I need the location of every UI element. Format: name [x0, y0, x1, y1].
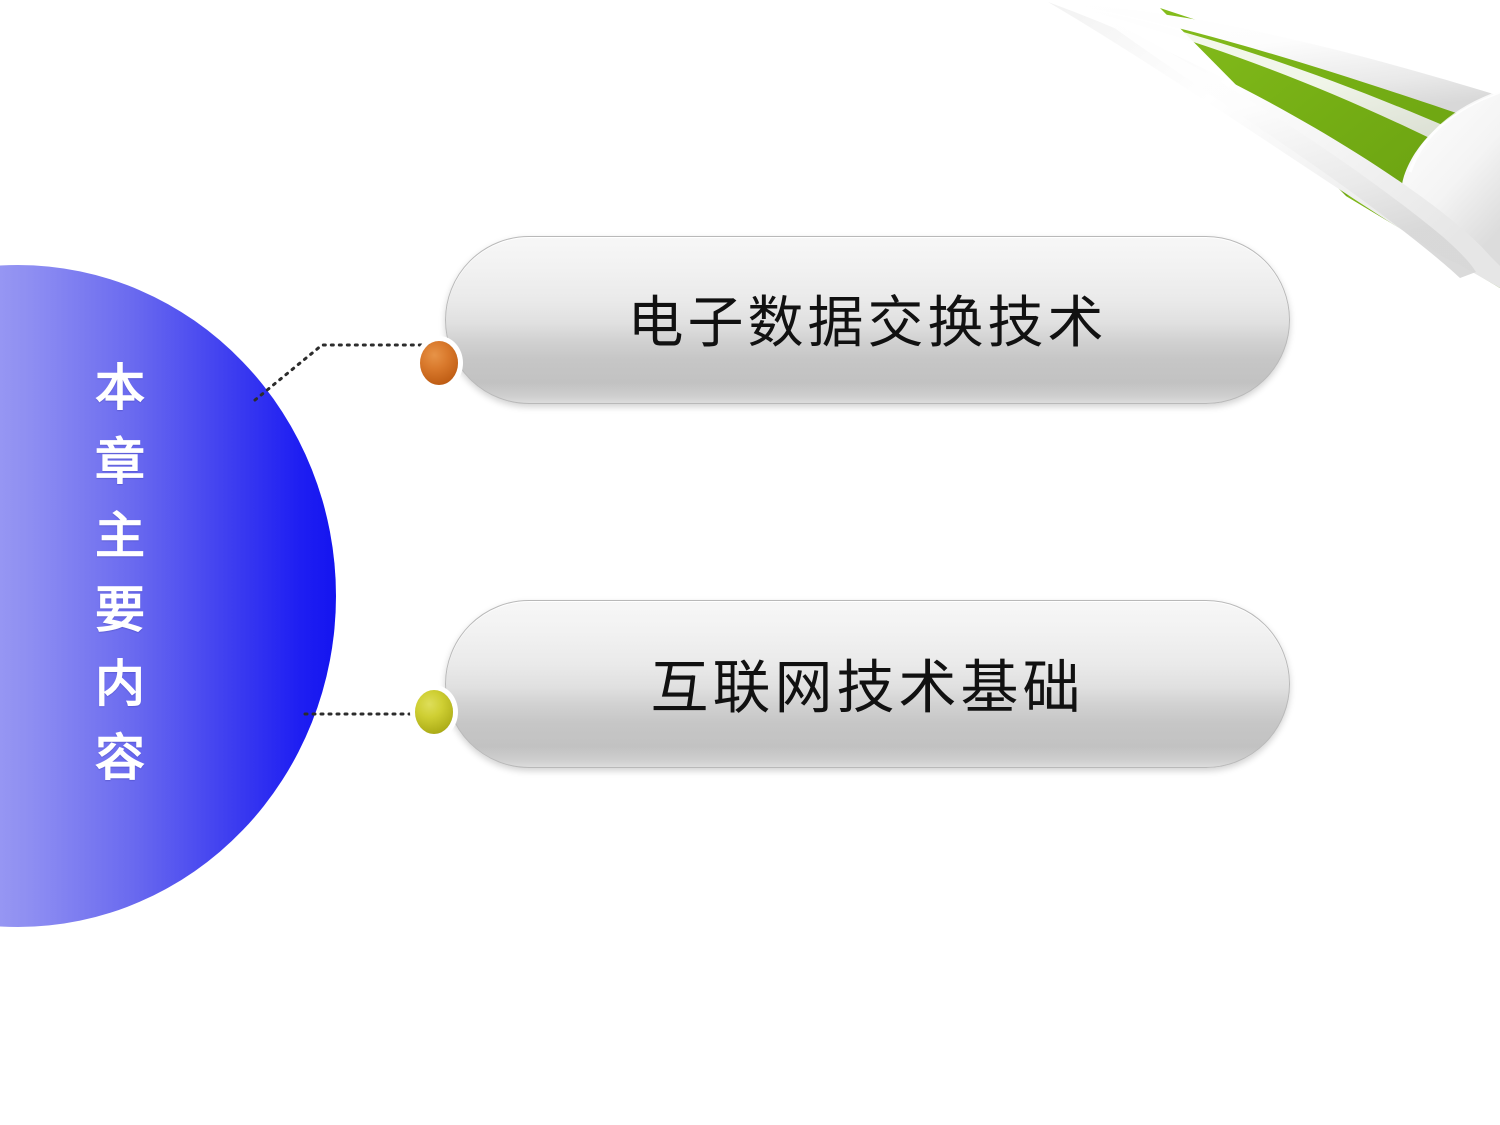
content-item[interactable]: 互联网技术基础	[0, 600, 1500, 770]
paper-sliver-top	[1048, 2, 1500, 128]
content-item[interactable]: 电子数据交换技术	[0, 236, 1500, 406]
item-pill[interactable]: 电子数据交换技术	[445, 236, 1290, 404]
item-label: 电子数据交换技术	[446, 278, 1289, 359]
paper-sliver-mid	[1048, 2, 1500, 176]
slide-canvas: 本 章 主 要 内 容 电子数据交换技术 互联网技术基础	[0, 0, 1500, 1125]
item-pill[interactable]: 互联网技术基础	[445, 600, 1290, 768]
bullet-dot-icon	[415, 690, 453, 734]
item-label: 互联网技术基础	[446, 640, 1289, 724]
bullet-dot-icon	[420, 341, 458, 385]
